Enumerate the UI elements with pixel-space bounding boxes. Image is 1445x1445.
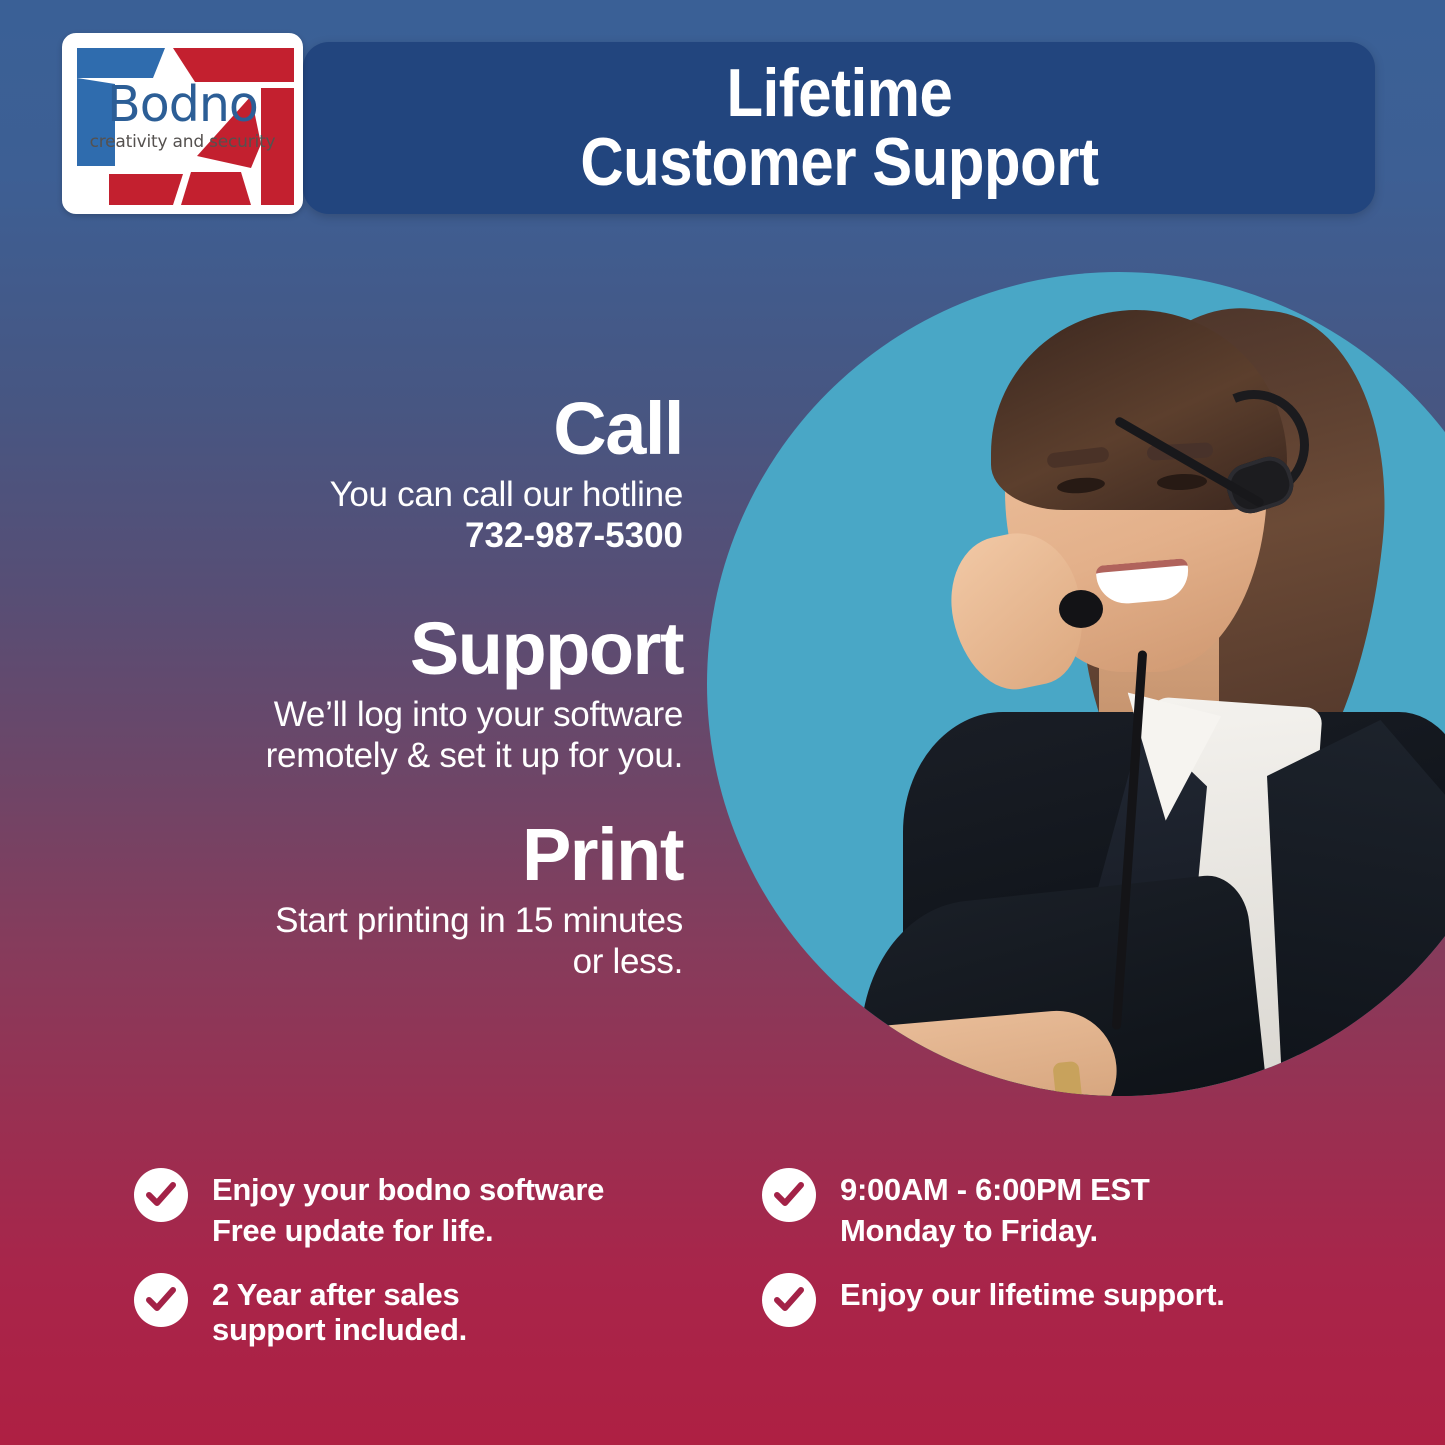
page-title: Lifetime Customer Support	[580, 59, 1098, 198]
agent-lapel-right	[1267, 720, 1445, 1096]
print-body: Start printing in 15 minutes or less.	[123, 900, 683, 983]
call-line-1: You can call our hotline	[123, 474, 683, 515]
logo-text: Bodno creativity and security	[65, 80, 300, 152]
poster-canvas: Lifetime Customer Support	[0, 0, 1445, 1445]
check-circle-icon	[762, 1168, 816, 1222]
check-circle-icon	[762, 1273, 816, 1327]
print-line-2: or less.	[123, 941, 683, 982]
bullet-column-left: Enjoy your bodno software Free update fo…	[134, 1168, 694, 1369]
feature-bullets: Enjoy your bodno software Free update fo…	[0, 1168, 1445, 1388]
bullet-column-right: 9:00AM - 6:00PM EST Monday to Friday. En…	[762, 1168, 1322, 1349]
bullet-label: Enjoy our lifetime support.	[840, 1273, 1225, 1315]
logo-wordmark: Bodno	[65, 80, 300, 129]
call-block: Call You can call our hotline 732-987-53…	[123, 392, 683, 557]
phone-number[interactable]: 732-987-5300	[123, 515, 683, 556]
support-agent-photo	[707, 272, 1445, 1096]
bullet-label: 2 Year after sales support included.	[212, 1273, 467, 1347]
support-line-2: remotely & set it up for you.	[123, 735, 683, 776]
support-heading: Support	[123, 612, 683, 686]
list-item: Enjoy our lifetime support.	[762, 1273, 1322, 1327]
print-heading: Print	[123, 818, 683, 892]
list-item: 2 Year after sales support included.	[134, 1273, 694, 1347]
bodno-logo: Bodno creativity and security	[62, 33, 303, 214]
support-body: We’ll log into your software remotely & …	[123, 694, 683, 777]
bullet-label: 9:00AM - 6:00PM EST Monday to Friday.	[840, 1168, 1150, 1251]
list-item: Enjoy your bodno software Free update fo…	[134, 1168, 694, 1251]
check-circle-icon	[134, 1273, 188, 1327]
list-item: 9:00AM - 6:00PM EST Monday to Friday.	[762, 1168, 1322, 1251]
call-body: You can call our hotline 732-987-5300	[123, 474, 683, 557]
header-banner: Lifetime Customer Support	[303, 42, 1375, 214]
print-block: Print Start printing in 15 minutes or le…	[123, 818, 683, 983]
call-heading: Call	[123, 392, 683, 466]
check-circle-icon	[134, 1168, 188, 1222]
support-block: Support We’ll log into your software rem…	[123, 612, 683, 777]
logo-tagline: creativity and security	[65, 132, 300, 152]
support-line-1: We’ll log into your software	[123, 694, 683, 735]
headset-microphone-icon	[1059, 590, 1103, 628]
bullet-label: Enjoy your bodno software Free update fo…	[212, 1168, 604, 1251]
print-line-1: Start printing in 15 minutes	[123, 900, 683, 941]
